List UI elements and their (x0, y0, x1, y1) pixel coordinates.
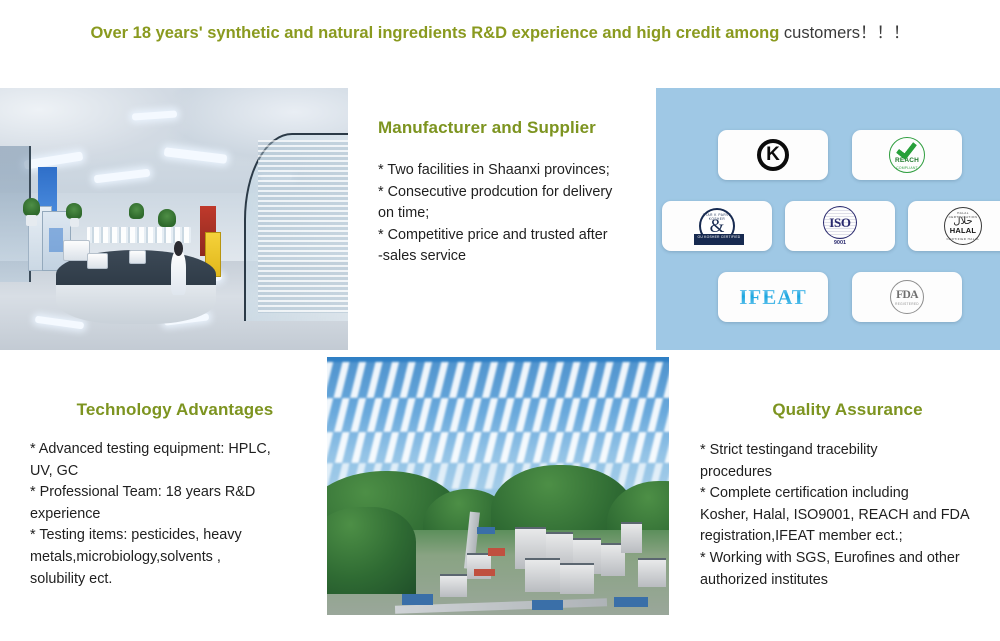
scientist-head (174, 241, 183, 255)
badge-card-ou-kosher[interactable]: STAR K PARVE KOSHER & OU KOSHER CERTIFIE… (662, 201, 772, 251)
technology-section: Technology Advantages * Advanced testing… (30, 400, 320, 590)
technology-body: * Advanced testing equipment: HPLC, UV, … (30, 439, 320, 590)
blue-roof (477, 527, 494, 533)
badge-card-kosher-k[interactable]: K (718, 130, 828, 180)
badge-card-iso[interactable]: ISO 9001 (785, 201, 895, 251)
scenery-photo (327, 357, 669, 615)
certification-grid: K REACH COMPLIANT STAR K PARVE KOSHER & … (656, 88, 1000, 350)
lab-bench-front (56, 285, 216, 324)
potted-plant (129, 203, 145, 219)
quality-section: Quality Assurance * Strict testingand tr… (700, 400, 995, 591)
glass-blinds (258, 140, 348, 313)
red-roof (488, 548, 505, 556)
laboratory-photo (0, 88, 348, 350)
page-title: Over 18 years' synthetic and natural ing… (0, 22, 1000, 44)
reach-sublabel: COMPLIANT (896, 166, 918, 170)
kosher-k-label: K (766, 144, 780, 166)
technology-title: Technology Advantages (30, 400, 320, 420)
potted-plant (66, 203, 82, 219)
fda-label: FDA (896, 289, 918, 301)
quality-body: * Strict testingand tracebility procedur… (700, 440, 995, 591)
plant-pot (26, 215, 36, 225)
fda-icon: FDA REGISTERED (890, 280, 924, 314)
low-building (638, 558, 665, 586)
iso-sublabel: 9001 (834, 240, 846, 246)
red-roof (474, 569, 495, 577)
ifeat-icon: IFEAT (739, 285, 807, 310)
manufacturer-title: Manufacturer and Supplier (378, 118, 653, 138)
kosher-k-icon: K (757, 139, 789, 171)
apartment-block (621, 522, 642, 553)
reach-icon: REACH COMPLIANT (889, 137, 925, 173)
badge-card-reach[interactable]: REACH COMPLIANT (852, 130, 962, 180)
manufacturer-body: * Two facilities in Shaanxi provinces; *… (378, 160, 653, 268)
low-building (440, 574, 467, 597)
ou-sublabel: OU KOSHER CERTIFIED (694, 234, 744, 245)
blue-roof (614, 597, 648, 607)
scientist-figure (171, 250, 187, 295)
halal-icon: HALAL CERTIFICATION حلال HALAL CERTIFIED… (944, 207, 982, 245)
potted-plant (158, 209, 175, 227)
badge-card-ifeat[interactable]: IFEAT (718, 272, 828, 322)
cloud-band (327, 362, 669, 398)
blue-roof (402, 594, 433, 604)
headline-dark-text: customers！！！ (784, 24, 910, 42)
halal-ring-text: HALAL CERTIFICATION (945, 211, 981, 219)
halal-label: HALAL (950, 226, 976, 235)
promo-banner: Over 18 years' synthetic and natural ing… (0, 0, 1000, 641)
halal-sublabel: CERTIFIED HALAL (945, 237, 981, 241)
iso-label: ISO (829, 215, 851, 231)
foreground-hill (327, 507, 416, 595)
apartment-block (560, 563, 594, 594)
iso-icon: ISO 9001 (817, 206, 863, 246)
cloud-band (327, 398, 669, 432)
manufacturer-section: Manufacturer and Supplier * Two faciliti… (378, 118, 653, 268)
badge-card-fda[interactable]: FDA REGISTERED (852, 272, 962, 322)
cloud-band (327, 432, 669, 463)
apartment-block (525, 558, 559, 592)
badge-card-halal[interactable]: HALAL CERTIFICATION حلال HALAL CERTIFIED… (908, 201, 1000, 251)
lab-instrument (87, 253, 108, 269)
ou-ring-text: STAR K PARVE KOSHER (701, 213, 733, 221)
blue-roof (532, 600, 563, 610)
reagent-bottles (87, 227, 191, 243)
lab-instrument (129, 250, 146, 263)
plant-pot (70, 218, 79, 227)
headline-green-text: Over 18 years' synthetic and natural ing… (90, 24, 783, 42)
fda-sublabel: REGISTERED (895, 302, 919, 306)
quality-title: Quality Assurance (700, 400, 995, 420)
certification-panel: K REACH COMPLIANT STAR K PARVE KOSHER & … (656, 88, 1000, 350)
potted-plant (23, 198, 40, 216)
ou-kosher-icon: STAR K PARVE KOSHER & OU KOSHER CERTIFIE… (699, 208, 735, 244)
